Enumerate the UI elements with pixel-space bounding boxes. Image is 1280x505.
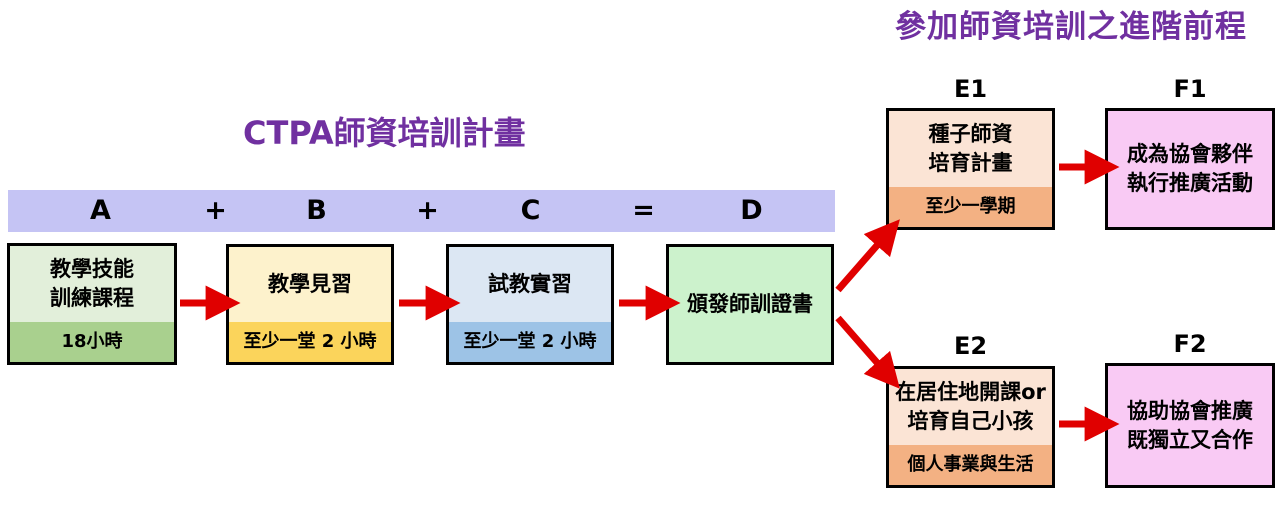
formula-cell-c: C	[473, 190, 588, 232]
branch-box-f1[interactable]: 成為協會夥伴 執行推廣活動	[1105, 108, 1275, 230]
formula-cell-equals: =	[586, 190, 701, 232]
arrow-d-to-e1-icon	[838, 234, 887, 290]
branch-label-e2: E2	[886, 333, 1055, 359]
branch-e2-line2: 培育自己小孩	[908, 407, 1034, 436]
branch-box-f2[interactable]: 協助協會推廣 既獨立又合作	[1105, 363, 1275, 488]
branch-e1-footer: 至少一學期	[889, 187, 1052, 227]
branch-label-e1: E1	[886, 76, 1055, 102]
stage-box-a[interactable]: 教學技能 訓練課程 18小時	[7, 243, 177, 365]
stage-d-line1: 頒發師訓證書	[687, 290, 813, 319]
branch-e2-line1: 在居住地開課or	[895, 378, 1046, 407]
stage-a-footer: 18小時	[10, 322, 174, 362]
stage-b-footer: 至少一堂 2 小時	[229, 322, 391, 362]
branch-label-f1: F1	[1105, 76, 1275, 102]
branch-f1-line2: 執行推廣活動	[1127, 169, 1253, 198]
stage-a-line1: 教學技能	[50, 255, 134, 284]
branch-e2-body: 在居住地開課or 培育自己小孩	[889, 369, 1052, 445]
branch-f1-body: 成為協會夥伴 執行推廣活動	[1108, 111, 1272, 227]
stage-box-b[interactable]: 教學見習 至少一堂 2 小時	[226, 244, 394, 365]
stage-b-line1: 教學見習	[268, 270, 352, 299]
formula-cell-d: D	[694, 190, 809, 232]
arrow-layer	[0, 0, 1280, 505]
branch-label-f2: F2	[1105, 331, 1275, 357]
stage-c-line1: 試教實習	[488, 270, 572, 299]
branch-e2-footer: 個人事業與生活	[889, 445, 1052, 485]
branch-box-e2[interactable]: 在居住地開課or 培育自己小孩 個人事業與生活	[886, 366, 1055, 488]
branch-f2-line2: 既獨立又合作	[1127, 426, 1253, 455]
stage-a-body: 教學技能 訓練課程	[10, 246, 174, 322]
stage-a-line2: 訓練課程	[50, 284, 134, 313]
formula-cell-a: A	[43, 190, 158, 232]
formula-cell-plus1: +	[158, 190, 273, 232]
diagram-canvas: 參加師資培訓之進階前程 CTPA師資培訓計畫 A + B + C = D 教學技…	[0, 0, 1280, 505]
branch-e1-line2: 培育計畫	[929, 149, 1013, 178]
formula-cell-plus2: +	[370, 190, 485, 232]
branch-f1-line1: 成為協會夥伴	[1127, 140, 1253, 169]
branch-box-e1[interactable]: 種子師資 培育計畫 至少一學期	[886, 108, 1055, 230]
advanced-path-title: 參加師資培訓之進階前程	[895, 6, 1280, 48]
stage-box-c[interactable]: 試教實習 至少一堂 2 小時	[446, 244, 614, 365]
stage-c-footer: 至少一堂 2 小時	[449, 322, 611, 362]
branch-e1-body: 種子師資 培育計畫	[889, 111, 1052, 187]
formula-cell-b: B	[259, 190, 374, 232]
branch-f2-body: 協助協會推廣 既獨立又合作	[1108, 366, 1272, 485]
branch-f2-line1: 協助協會推廣	[1127, 397, 1253, 426]
stage-b-body: 教學見習	[229, 247, 391, 322]
formula-bar: A + B + C = D	[8, 190, 835, 232]
stage-c-body: 試教實習	[449, 247, 611, 322]
stage-d-body: 頒發師訓證書	[669, 247, 831, 362]
program-title: CTPA師資培訓計畫	[243, 110, 623, 156]
stage-box-d[interactable]: 頒發師訓證書	[666, 244, 834, 365]
branch-e1-line1: 種子師資	[929, 120, 1013, 149]
arrow-d-to-e2-icon	[838, 318, 887, 374]
